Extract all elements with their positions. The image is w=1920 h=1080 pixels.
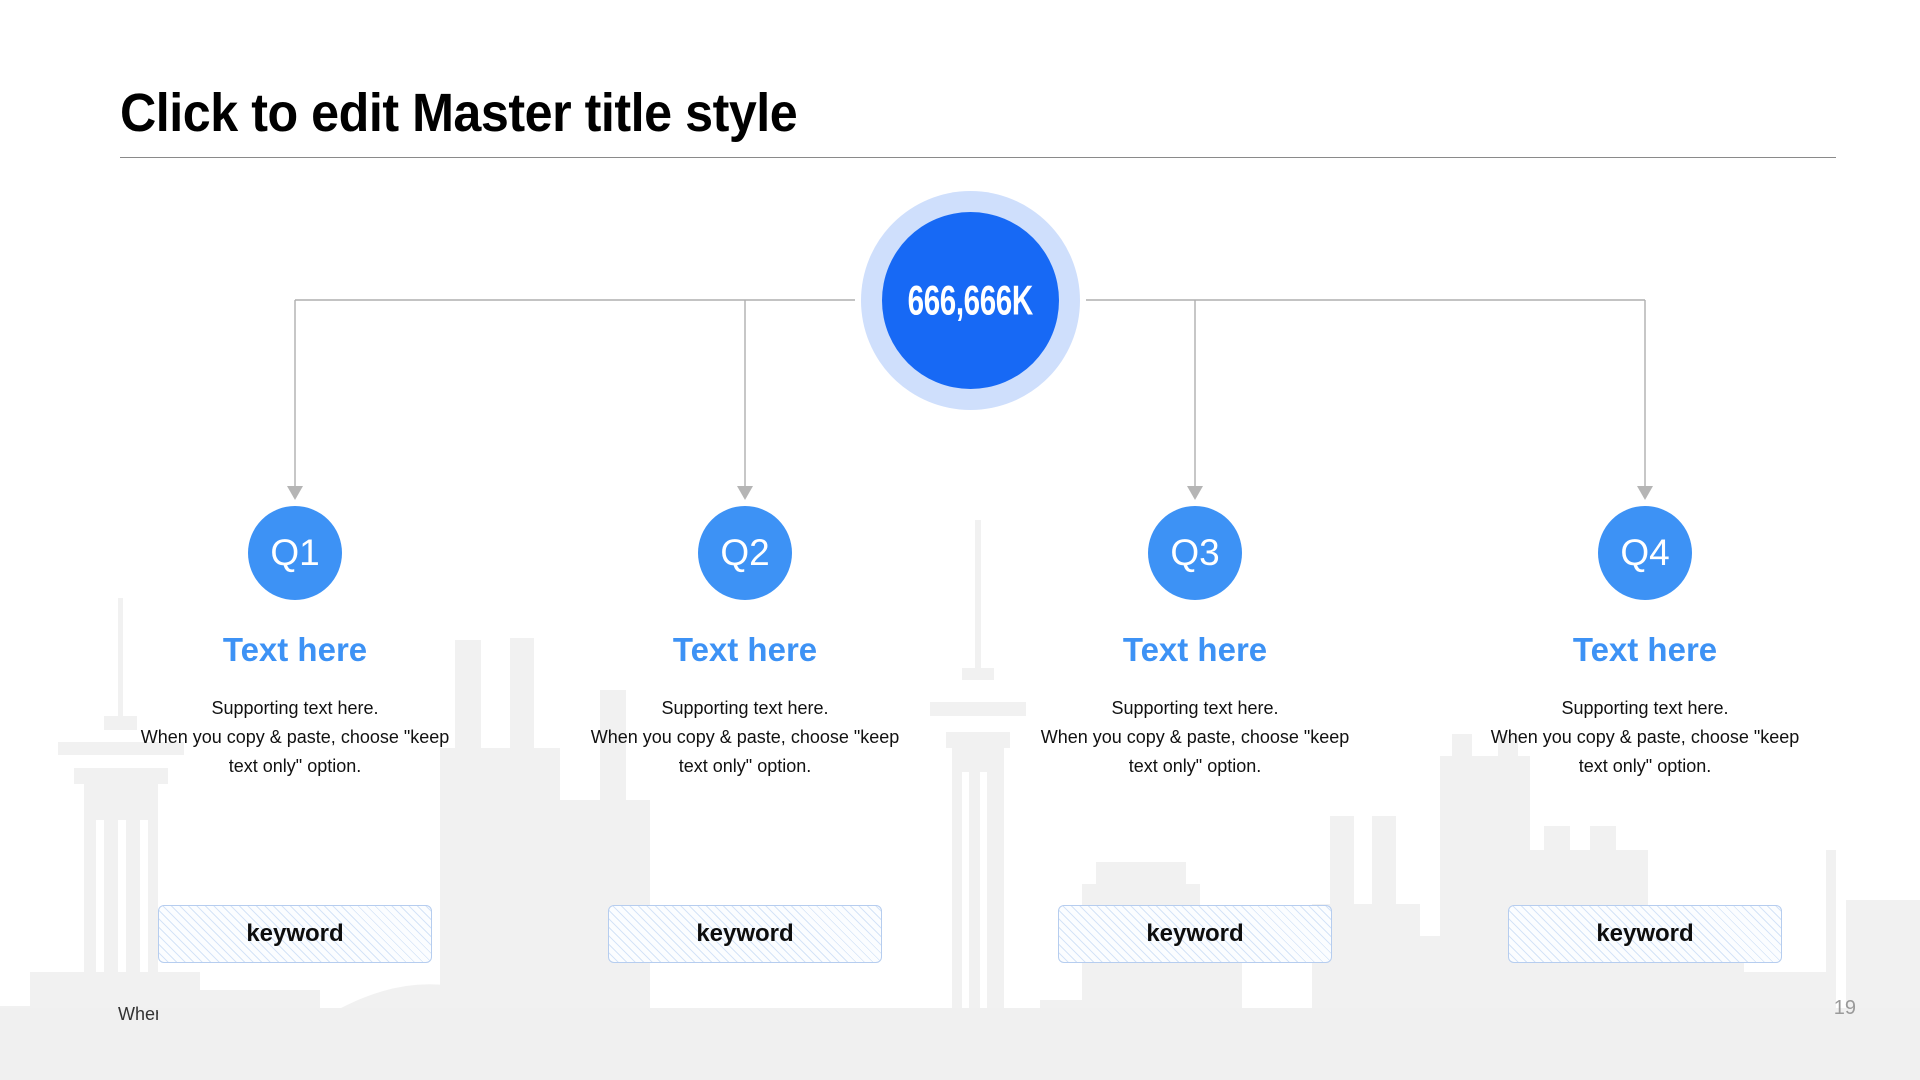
hub-core-circle: 666,666K [882,212,1059,389]
page-title[interactable]: Click to edit Master title style [120,84,1716,142]
column-q1: Q1 Text here Supporting text here. When … [125,506,465,781]
body-line: text only" option. [575,752,915,781]
slide-canvas: Click to edit Master title style 666,666… [0,0,1920,1080]
keyword-box-q3[interactable]: keyword [1058,905,1332,963]
column-q2: Q2 Text here Supporting text here. When … [575,506,915,781]
keyword-box-q4[interactable]: keyword [1508,905,1782,963]
keyword-label: keyword [696,920,793,948]
keyword-label: keyword [246,920,343,948]
footer-band [0,1008,1920,1080]
q-badge-q3[interactable]: Q3 [1148,506,1242,600]
central-hub[interactable]: 666,666K [861,191,1080,410]
q-badge-label: Q4 [1620,532,1669,574]
connector-arrowheads [287,486,1653,500]
column-heading-q1[interactable]: Text here [223,633,367,666]
body-line: When you copy & paste, choose "keep [575,723,915,752]
column-heading-q4[interactable]: Text here [1573,633,1717,666]
column-body-q3: Supporting text here. When you copy & pa… [1025,694,1365,781]
body-line: Supporting text here. [1475,694,1815,723]
body-line: text only" option. [1475,752,1815,781]
q-badge-q1[interactable]: Q1 [248,506,342,600]
title-block: Click to edit Master title style [120,84,1836,158]
page-number: 19 [1834,997,1856,1020]
column-body-q2: Supporting text here. When you copy & pa… [575,694,915,781]
column-q3: Q3 Text here Supporting text here. When … [1025,506,1365,781]
overflow-text-fragment: When you copy & paste, choose "keep [118,1000,158,1026]
q-badge-label: Q2 [720,532,769,574]
keyword-box-q1[interactable]: keyword [158,905,432,963]
q-badge-label: Q1 [270,532,319,574]
hub-value-label: 666,666K [908,277,1033,324]
title-divider [120,157,1836,158]
body-line: When you copy & paste, choose "keep [1475,723,1815,752]
column-heading-q2[interactable]: Text here [673,633,817,666]
q-badge-q4[interactable]: Q4 [1598,506,1692,600]
q-badge-q2[interactable]: Q2 [698,506,792,600]
body-line: Supporting text here. [125,694,465,723]
column-heading-q3[interactable]: Text here [1123,633,1267,666]
body-line: text only" option. [125,752,465,781]
body-line: Supporting text here. [1025,694,1365,723]
body-line: When you copy & paste, choose "keep [1025,723,1365,752]
keyword-box-q2[interactable]: keyword [608,905,882,963]
body-line: text only" option. [1025,752,1365,781]
column-body-q1: Supporting text here. When you copy & pa… [125,694,465,781]
body-line: When you copy & paste, choose "keep [125,723,465,752]
body-line: Supporting text here. [575,694,915,723]
column-body-q4: Supporting text here. When you copy & pa… [1475,694,1815,781]
q-badge-label: Q3 [1170,532,1219,574]
column-q4: Q4 Text here Supporting text here. When … [1475,506,1815,781]
keyword-label: keyword [1596,920,1693,948]
keyword-label: keyword [1146,920,1243,948]
